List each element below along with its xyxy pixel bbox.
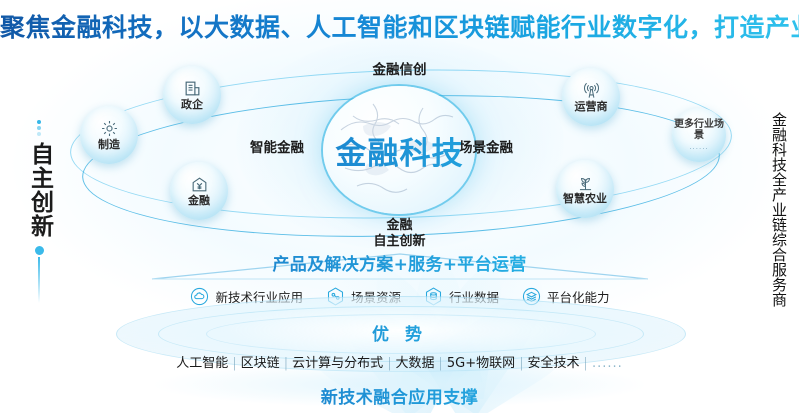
- node-label: 制造: [98, 139, 120, 151]
- tech-separator: |: [284, 356, 288, 371]
- center-bottom-line1: 金融: [0, 218, 799, 234]
- tech-separator: |: [439, 356, 443, 371]
- tech-separator: |: [519, 356, 523, 371]
- node-more-scenarios[interactable]: 更多行业场景 ......: [672, 108, 726, 162]
- tech-separator: |: [232, 356, 236, 371]
- node-label: 更多行业场景: [672, 119, 726, 141]
- node-label: 智慧农业: [563, 193, 607, 205]
- agriculture-icon: [576, 173, 595, 192]
- gear-icon: [100, 119, 119, 138]
- ellipsis-icon: ......: [689, 143, 708, 151]
- node-label: 运营商: [575, 101, 608, 113]
- tech-item: 5G+物联网: [447, 356, 515, 371]
- band-title: 产品及解决方案+服务+平台运营: [0, 250, 799, 275]
- node-zhizao[interactable]: 制造: [80, 106, 138, 164]
- center-bottom-line2: 自主创新: [0, 234, 799, 250]
- infographic-canvas: 聚焦金融科技，以大数据、人工智能和区块链赋能行业数字化，打造产业融合新生态 自主…: [0, 0, 799, 413]
- tech-separator: |: [584, 356, 588, 371]
- tech-ellipsis: ......: [592, 356, 623, 371]
- tech-list: 人工智能|区块链|云计算与分布式|大数据|5G+物联网|安全技术|......: [0, 352, 799, 371]
- tech-item: 人工智能: [176, 356, 228, 371]
- node-yunying[interactable]: 运营商: [562, 68, 620, 126]
- node-label: 政企: [181, 99, 203, 111]
- node-nongye[interactable]: 智慧农业: [556, 160, 614, 218]
- tech-item: 区块链: [241, 356, 280, 371]
- node-jinrong[interactable]: 金融: [170, 162, 228, 220]
- advantage-title: 优 势: [0, 320, 799, 345]
- building-icon: [183, 79, 202, 98]
- tech-item: 安全技术: [528, 356, 580, 371]
- footer-title: 新技术融合应用支撑: [0, 383, 799, 408]
- node-label: 金融: [188, 195, 210, 207]
- tech-item: 云计算与分布式: [292, 356, 383, 371]
- center-bottom-label: 金融 自主创新: [0, 218, 799, 250]
- cloud-circle-icon: [189, 286, 210, 307]
- center-top-label: 金融信创: [0, 58, 799, 78]
- node-zhengqi[interactable]: 政企: [163, 66, 221, 124]
- tech-item: 大数据: [395, 356, 434, 371]
- antenna-icon: [582, 81, 601, 100]
- tech-separator: |: [387, 356, 391, 371]
- bank-yen-icon: [190, 175, 209, 194]
